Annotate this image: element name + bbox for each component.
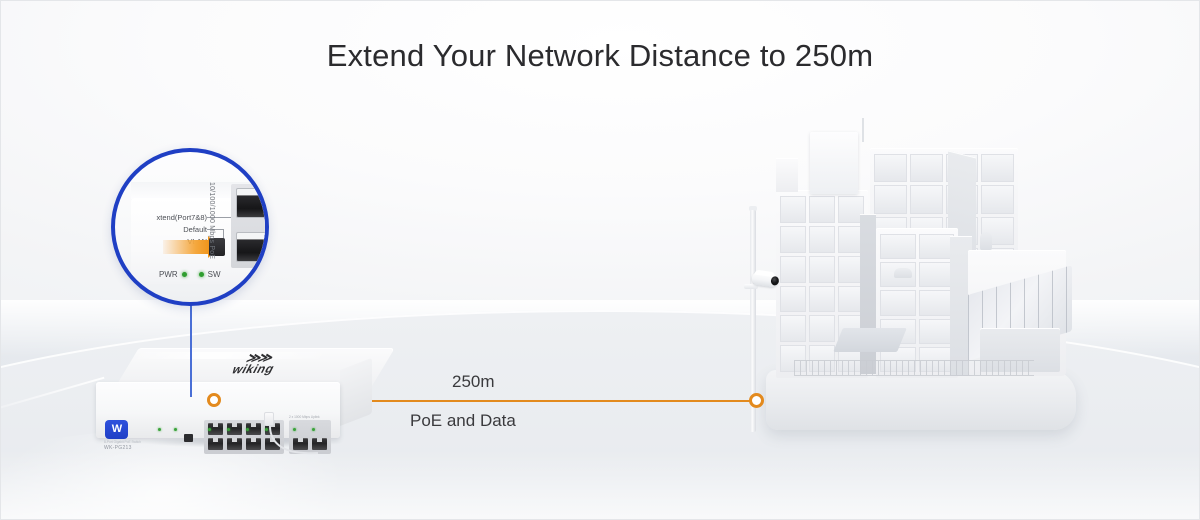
roof-antenna xyxy=(862,118,864,142)
window xyxy=(981,154,1014,182)
window xyxy=(910,154,943,182)
window xyxy=(880,234,916,259)
window xyxy=(919,262,955,287)
port-led xyxy=(246,428,249,431)
link-origin-dot xyxy=(207,393,221,407)
window xyxy=(919,319,955,344)
mag-led-sw-indicator xyxy=(199,272,204,277)
switch-face-note: 8-Port Gigabit PoE Switch xyxy=(104,440,141,444)
switch-brand-top: ≫≫ wiking xyxy=(207,351,304,376)
payload-label: PoE and Data xyxy=(410,411,516,431)
rj45-port[interactable] xyxy=(208,438,223,450)
switch-side-panel xyxy=(340,358,372,426)
bottom-fade xyxy=(0,450,1200,520)
brand-logo-badge: W xyxy=(105,420,128,439)
mag-status-leds: PWR SW xyxy=(159,270,221,279)
poe-switch-device: ≫≫ wiking W 8-Port Gigabit PoE Switch WK… xyxy=(96,348,372,440)
street-canopy xyxy=(833,328,907,352)
rj45-port[interactable] xyxy=(246,438,261,450)
window xyxy=(780,256,806,283)
window xyxy=(981,185,1014,213)
mag-led-pwr-indicator xyxy=(182,272,187,277)
mag-rj45-port[interactable] xyxy=(236,188,266,218)
building-tower-center xyxy=(876,228,958,378)
mag-highlight-arrow xyxy=(163,240,209,254)
status-led-pwr xyxy=(158,428,161,431)
window xyxy=(809,256,835,283)
window xyxy=(910,185,943,213)
port-led xyxy=(227,428,230,431)
window xyxy=(880,290,916,315)
window xyxy=(780,226,806,253)
hero-banner: Extend Your Network Distance to 250m xyxy=(0,0,1200,520)
roof-vent-duct xyxy=(894,268,912,278)
window xyxy=(780,196,806,223)
building-complex-render xyxy=(742,132,1088,444)
window xyxy=(809,196,835,223)
building-base-slab xyxy=(766,370,1076,430)
magnifier-callout: xtend(Port7&8) Default VLAN 10/100/1000 … xyxy=(111,148,269,306)
window xyxy=(919,234,955,259)
window xyxy=(874,185,907,213)
status-led-sw xyxy=(174,428,177,431)
window xyxy=(809,315,835,342)
window xyxy=(809,226,835,253)
brand-wordmark: wiking xyxy=(207,362,298,376)
window xyxy=(874,154,907,182)
page-title: Extend Your Network Distance to 250m xyxy=(0,38,1200,74)
rj45-port[interactable] xyxy=(227,438,242,450)
window xyxy=(780,286,806,313)
link-endpoint-dot xyxy=(749,393,764,408)
mode-dip-switch[interactable] xyxy=(184,434,193,442)
mag-led-sw-label: SW xyxy=(208,270,221,279)
window xyxy=(780,315,806,342)
mag-led-pwr-label: PWR xyxy=(159,270,178,279)
window xyxy=(919,290,955,315)
mag-rj45-port[interactable] xyxy=(236,232,266,262)
perimeter-fence xyxy=(794,360,1034,376)
rooftop-billboard xyxy=(810,132,858,194)
distance-label: 250m xyxy=(452,372,495,392)
mag-rj45-port-column xyxy=(231,184,269,268)
mag-port-spec-label: 10/100/1000 Mbps PoE xyxy=(208,182,215,252)
window xyxy=(809,286,835,313)
mag-mode-label-default: Default xyxy=(117,224,207,236)
roof-vent-pipe xyxy=(980,232,992,250)
port-led xyxy=(208,428,211,431)
mag-mode-label-extend: xtend(Port7&8) xyxy=(117,212,207,224)
rooftop-box xyxy=(776,158,798,192)
